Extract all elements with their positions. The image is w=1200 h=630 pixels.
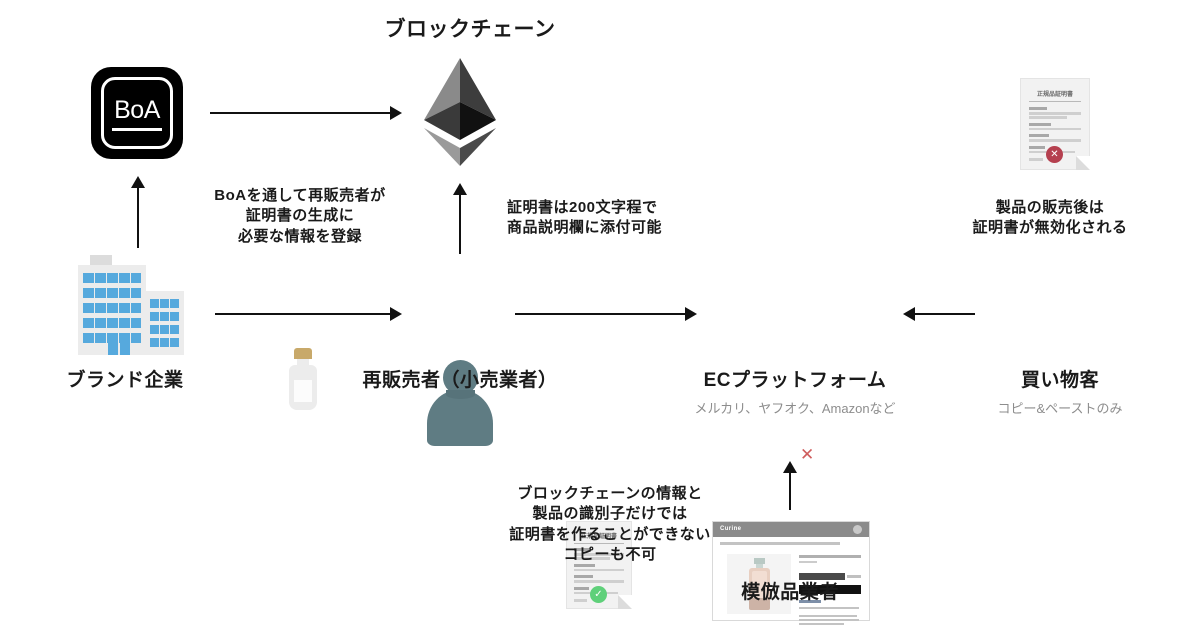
certificate-valid-badge: ✓	[590, 586, 607, 603]
ethereum-diamond-icon	[424, 58, 496, 171]
office-building-icon	[70, 255, 190, 355]
node-label-ec-platform: ECプラットフォーム	[655, 368, 935, 394]
node-label-reseller: 再販売者（小売業者）	[340, 368, 580, 394]
certificate-invalid: 正規品証明書 ✕	[1020, 78, 1090, 170]
node-label-brand: ブランド企業	[25, 368, 225, 394]
product-detail-panel	[799, 555, 863, 563]
product-price-note	[847, 575, 861, 578]
perfume-bottle-icon	[283, 348, 323, 410]
node-label-counterfeiter: 模倣品業者	[695, 580, 885, 606]
browser-window-icon[interactable]: Curine	[712, 521, 870, 621]
blocked-x-marker: ✕	[800, 445, 814, 465]
note-counterfeit-block: ブロックチェーンの情報と 製品の識別子だけでは 証明書を作ることができない コピ…	[490, 484, 730, 565]
node-sublabel-shopper: コピー&ペーストのみ	[965, 400, 1155, 418]
boa-logo-rule	[112, 128, 162, 131]
node-sublabel-ec-platform: メルカリ、ヤフオク、Amazonなど	[655, 400, 935, 418]
diagram-canvas: ブロックチェーン BoA BoAを通して再販売者が 証明書の生成に 必要な情報を…	[0, 0, 1200, 630]
certificate-invalid-badge: ✕	[1046, 146, 1063, 163]
note-brand-to-boa: BoAを通して再販売者が 証明書の生成に 必要な情報を登録	[185, 186, 415, 247]
note-shopper-invalidate: 製品の販売後は 証明書が無効化される	[950, 198, 1150, 239]
note-reseller-to-ec: 証明書は200文字程で 商品説明欄に添付可能	[507, 198, 707, 239]
user-account-icon[interactable]	[853, 525, 862, 534]
product-title-line	[799, 555, 861, 558]
node-label-shopper: 買い物客	[965, 368, 1155, 394]
page-title: ブロックチェーン	[310, 16, 630, 44]
product-price	[799, 573, 845, 580]
boa-logo-label: BoA	[114, 98, 160, 123]
certificate-title: 正規品証明書	[1029, 89, 1081, 102]
boa-logo-icon: BoA	[91, 67, 183, 159]
